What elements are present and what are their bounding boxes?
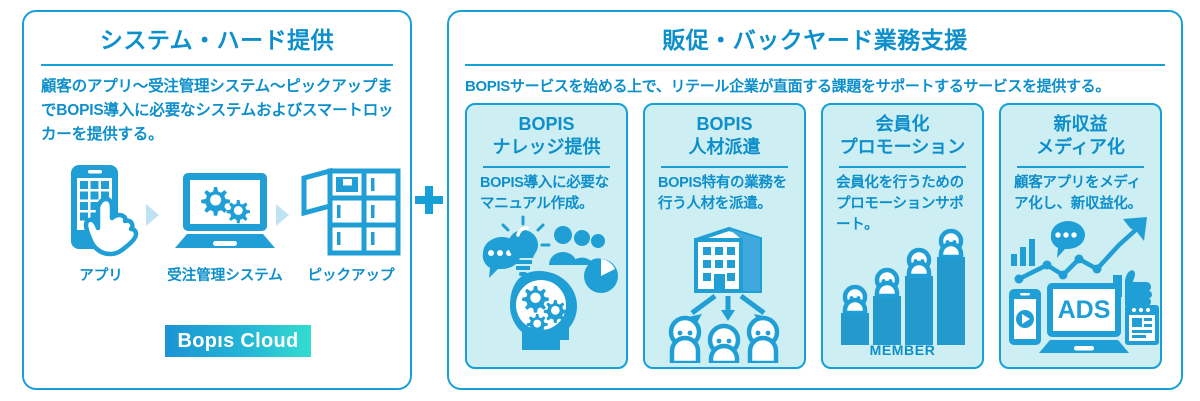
bopis-cloud-badge-label: Bopıs Cloud — [177, 330, 298, 353]
service-card-new-revenue-media-description: 顧客アプリをメディア化し、新収益化。 — [1014, 173, 1154, 215]
left-flow-row: アプリ 受注管理システム — [24, 162, 410, 312]
service-card-member-promotion-divider — [839, 166, 966, 168]
laptop-gears-icon — [161, 170, 289, 258]
service-card-staffing-art — [645, 213, 804, 363]
chat-bubble-icon — [1051, 221, 1085, 258]
laptop-ads-icon: ADS — [1039, 283, 1129, 353]
left-panel-description: 顧客のアプリ〜受注管理システム〜ピックアップまでBOPIS導入に必要なシステムお… — [41, 75, 399, 147]
plus-sign — [415, 186, 443, 214]
right-panel-title: 販促・バックヤード業務支援 — [449, 29, 1181, 52]
pie-chart-icon — [584, 259, 618, 293]
flow-step-app-label: アプリ — [58, 264, 144, 285]
flow-step-order-system-label: 受注管理システム — [161, 264, 289, 285]
service-card-new-revenue-media[interactable]: 新収益 メディア化 顧客アプリをメディア化し、新収益化。 — [999, 103, 1162, 369]
svg-text:ADS: ADS — [1058, 296, 1111, 324]
service-card-knowledge-divider — [483, 166, 610, 168]
plus-vertical-bar — [425, 186, 433, 214]
flow-step-pickup-label: ピックアップ — [292, 264, 410, 285]
bopis-cloud-badge: Bopıs Cloud — [165, 325, 311, 357]
smartphone-play-icon — [1009, 289, 1041, 345]
office-building-icon — [696, 229, 760, 291]
service-card-new-revenue-media-art: ADS — [1001, 213, 1160, 363]
service-card-staffing[interactable]: BOPIS 人材派遣 BOPIS特有の業務を行う人材を派遣。 — [643, 103, 806, 369]
service-card-new-revenue-media-divider — [1017, 166, 1144, 168]
service-card-knowledge-description: BOPIS導入に必要なマニュアル作成。 — [480, 173, 620, 215]
service-card-staffing-description: BOPIS特有の業務を行う人材を派遣。 — [658, 173, 798, 215]
service-card-new-revenue-media-title: 新収益 メディア化 — [1001, 113, 1160, 159]
left-panel-divider — [41, 64, 393, 66]
service-card-staffing-divider — [661, 166, 788, 168]
building-staffing-icon — [645, 213, 804, 363]
service-card-staffing-title: BOPIS 人材派遣 — [645, 113, 804, 159]
left-panel-title: システム・ハード提供 — [24, 29, 410, 52]
mini-bar-chart-icon — [1011, 239, 1035, 266]
service-card-knowledge[interactable]: BOPIS ナレッジ提供 BOPIS導入に必要なマニュアル作成。 — [465, 103, 628, 369]
ads-media-icon: ADS — [1001, 213, 1160, 363]
service-card-member-promotion-title: 会員化 プロモーション — [823, 113, 982, 159]
service-card-member-promotion[interactable]: 会員化 プロモーション 会員化を行うためのプロモーションサポート。 — [821, 103, 984, 369]
knowledge-head-gears-icon — [467, 213, 626, 363]
service-card-knowledge-art — [467, 213, 626, 363]
person-group-icon — [671, 318, 777, 363]
locker-icon — [292, 168, 410, 258]
flow-step-pickup: ピックアップ — [292, 168, 410, 285]
flow-arrow-2-icon — [276, 204, 289, 226]
browser-window-icon — [1125, 305, 1159, 345]
member-growth-chart-icon — [823, 213, 982, 363]
smartphone-hand-icon — [58, 162, 144, 258]
right-panel-divider — [465, 64, 1165, 66]
member-caption: MEMBER — [823, 342, 982, 358]
flow-step-order-system: 受注管理システム — [161, 170, 289, 285]
right-panel-description: BOPISサービスを始める上で、リテール企業が直面する課題をサポートするサービス… — [465, 75, 1171, 99]
flow-arrow-1-icon — [146, 204, 159, 226]
service-card-knowledge-title: BOPIS ナレッジ提供 — [467, 113, 626, 159]
flow-step-app: アプリ — [58, 162, 144, 285]
head-gears-icon — [510, 271, 577, 350]
left-panel: システム・ハード提供 顧客のアプリ〜受注管理システム〜ピックアップまでBOPIS… — [22, 10, 412, 390]
diagram-root: システム・ハード提供 顧客のアプリ〜受注管理システム〜ピックアップまでBOPIS… — [0, 0, 1200, 401]
service-card-member-promotion-art — [823, 213, 982, 363]
